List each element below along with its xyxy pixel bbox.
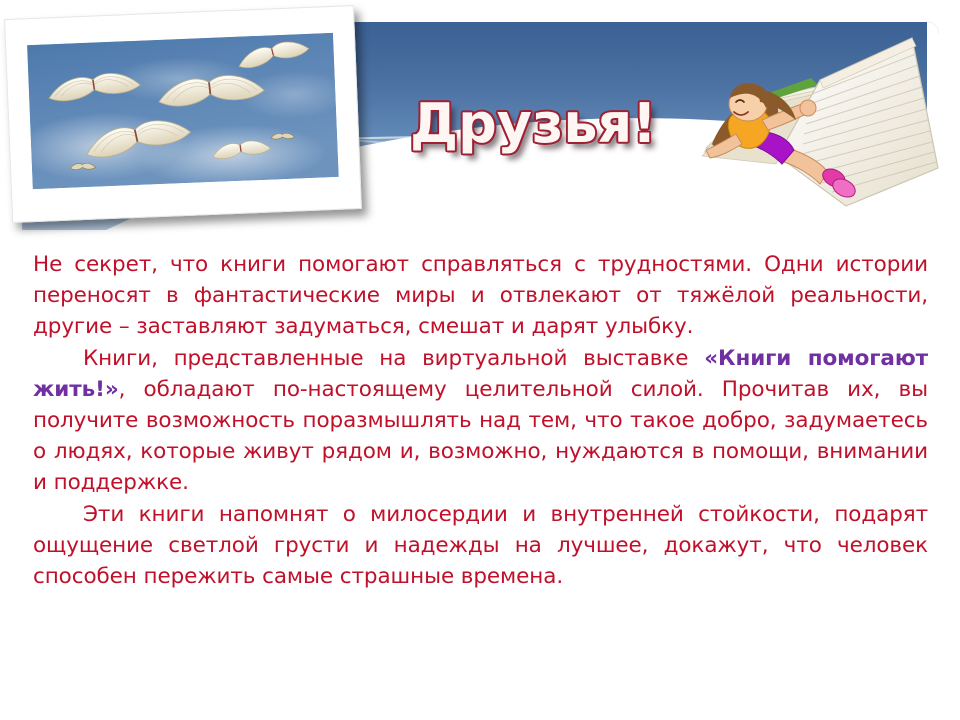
- slide-canvas: Друзья!: [0, 0, 960, 720]
- text-run: , обладают по-настоящему целительной сил…: [33, 377, 928, 496]
- slide-title: Друзья!: [410, 92, 657, 155]
- paragraph: Эти книги напомнят о милосердии и внутре…: [33, 499, 928, 593]
- body-text-block: Не секрет, что книги помогают справлятьс…: [33, 249, 928, 592]
- text-run: Не секрет, что книги помогают справлятьс…: [33, 252, 928, 339]
- paragraph: Не секрет, что книги помогают справлятьс…: [33, 249, 928, 343]
- text-run: Эти книги напомнят о милосердии и внутре…: [33, 502, 928, 589]
- header-right-white-edge: [927, 22, 939, 230]
- photo-flying-books: [27, 33, 339, 189]
- text-run: Книги, представленные на виртуальной выс…: [83, 346, 704, 371]
- photo-frame: [4, 5, 362, 223]
- paragraph: Книги, представленные на виртуальной выс…: [33, 343, 928, 499]
